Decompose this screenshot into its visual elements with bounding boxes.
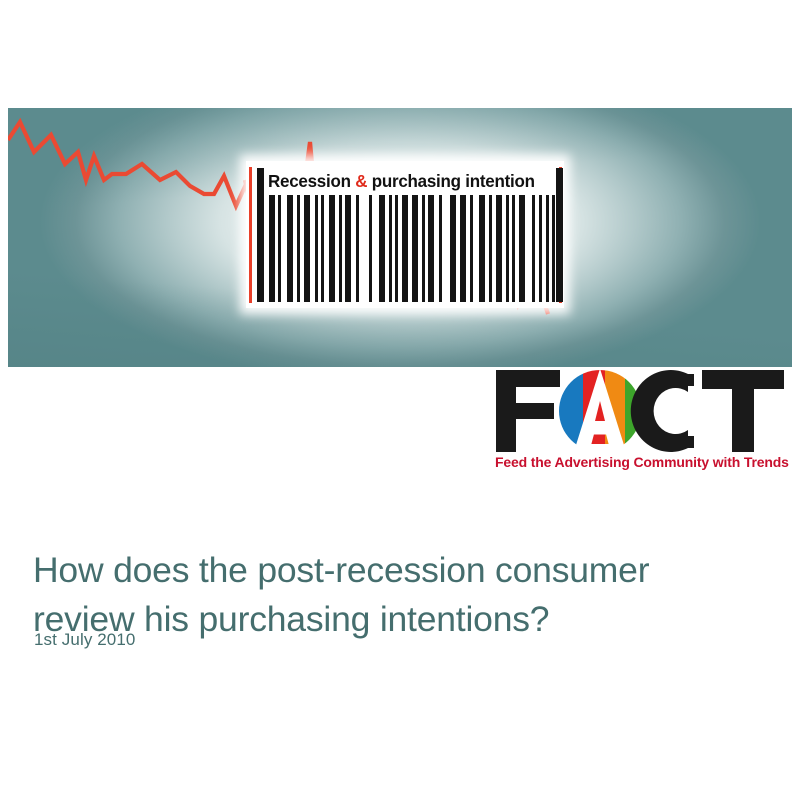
presentation-date: 1st July 2010: [34, 628, 135, 652]
logo-letter-c: [631, 370, 694, 452]
recession-banner: Recession & purchasing intention: [8, 108, 792, 367]
fact-wordmark: [492, 368, 792, 454]
barcode-caption-after: purchasing intention: [367, 171, 534, 191]
barcode-caption-ampersand: &: [355, 171, 367, 191]
page-title-line-2: review his purchasing intentions?: [33, 595, 763, 644]
barcode-caption-before: Recession: [268, 171, 355, 191]
barcode-left-rail: [249, 167, 252, 303]
title-slide: Recession & purchasing intention: [0, 0, 800, 800]
page-title-line-1: How does the post-recession consumer: [33, 546, 763, 595]
barcode-caption: Recession & purchasing intention: [268, 169, 526, 193]
logo-letter-t: [702, 370, 784, 452]
page-title: How does the post-recession consumer rev…: [33, 546, 763, 644]
barcode-bars: [253, 195, 557, 302]
logo-letter-f: [496, 370, 560, 452]
fact-logo: Feed the Advertising Community with Tren…: [492, 368, 792, 480]
barcode-graphic: Recession & purchasing intention: [246, 161, 564, 308]
fact-tagline: Feed the Advertising Community with Tren…: [495, 455, 788, 471]
